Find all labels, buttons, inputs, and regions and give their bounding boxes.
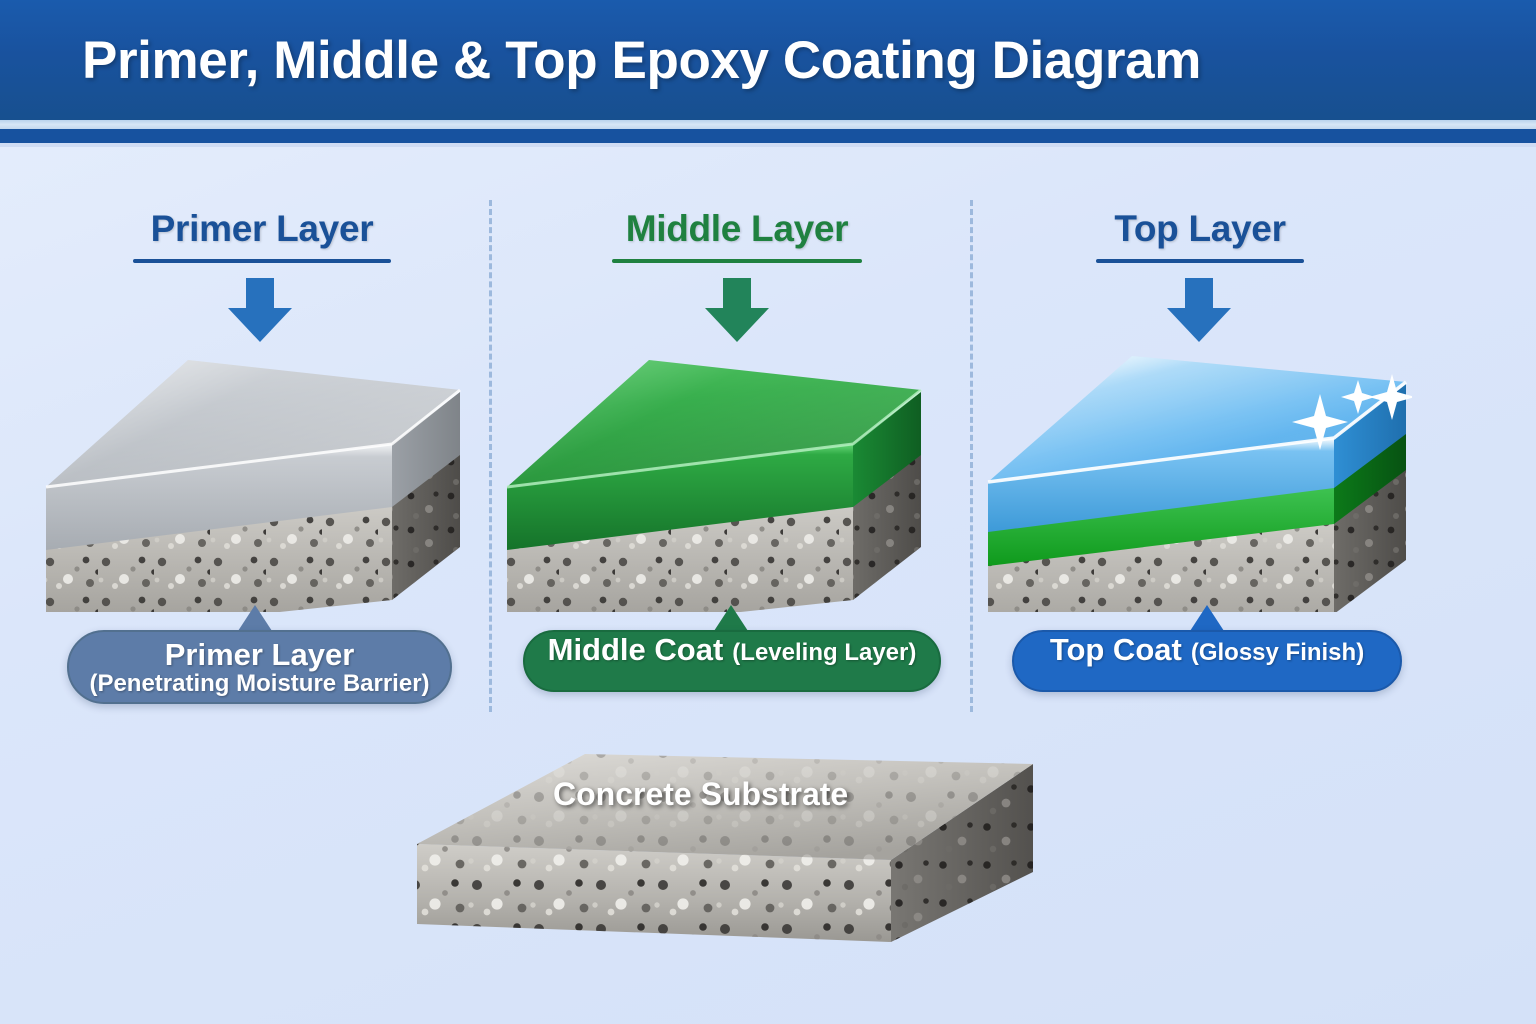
arrow-shaft [246, 278, 274, 310]
substrate-label: Concrete Substrate [553, 776, 848, 813]
column-divider-1 [489, 200, 492, 712]
arrow-head [1167, 308, 1231, 342]
arrow-shaft [723, 278, 751, 310]
header-accent-strip-base [0, 143, 1536, 147]
callout-pill-middle-main: Middle Coat [548, 632, 724, 668]
slab-primer [42, 352, 462, 612]
column-heading-middle-rule [612, 259, 862, 263]
callout-pill-top-main: Top Coat [1050, 632, 1182, 668]
column-heading-primer-rule [133, 259, 391, 263]
column-heading-top-rule [1096, 259, 1304, 263]
arrow-head [705, 308, 769, 342]
arrow-shaft [1185, 278, 1213, 310]
column-heading-primer-label: Primer Layer [77, 208, 447, 250]
down-arrow-icon-middle [705, 278, 769, 342]
header-bar: Primer, Middle & Top Epoxy Coating Diagr… [0, 0, 1536, 120]
pill-pointer-top [1190, 605, 1224, 631]
callout-pill-top-sub: (Glossy Finish) [1191, 639, 1364, 667]
pill-pointer-primer [238, 605, 272, 631]
pill-pointer-middle [714, 605, 748, 631]
callout-pill-top[interactable]: Top Coat (Glossy Finish) [1012, 630, 1402, 692]
callout-pill-primer-main: Primer Layer [165, 637, 355, 673]
callout-pill-primer-sub: (Penetrating Moisture Barrier) [50, 670, 470, 698]
slab-top [982, 352, 1412, 612]
column-heading-middle: Middle Layer [562, 208, 912, 263]
callout-pill-middle-sub: (Leveling Layer) [732, 639, 916, 667]
page-title: Primer, Middle & Top Epoxy Coating Diagr… [82, 30, 1201, 91]
header-accent-strip-dark [0, 129, 1536, 143]
arrow-head [228, 308, 292, 342]
column-heading-top-label: Top Layer [1035, 208, 1365, 250]
slab-substrate [405, 742, 1045, 962]
column-heading-top: Top Layer [1035, 208, 1365, 263]
column-heading-primer: Primer Layer [77, 208, 447, 263]
callout-pill-middle[interactable]: Middle Coat (Leveling Layer) [523, 630, 941, 692]
slab-middle [503, 352, 923, 612]
callout-pill-primer[interactable]: Primer Layer (Penetrating Moisture Barri… [67, 630, 452, 704]
down-arrow-icon-top [1167, 278, 1231, 342]
column-divider-2 [970, 200, 973, 712]
down-arrow-icon-primer [228, 278, 292, 342]
header-accent-strip-light [0, 120, 1536, 129]
column-heading-middle-label: Middle Layer [562, 208, 912, 250]
diagram-canvas: Primer, Middle & Top Epoxy Coating Diagr… [0, 0, 1536, 1024]
